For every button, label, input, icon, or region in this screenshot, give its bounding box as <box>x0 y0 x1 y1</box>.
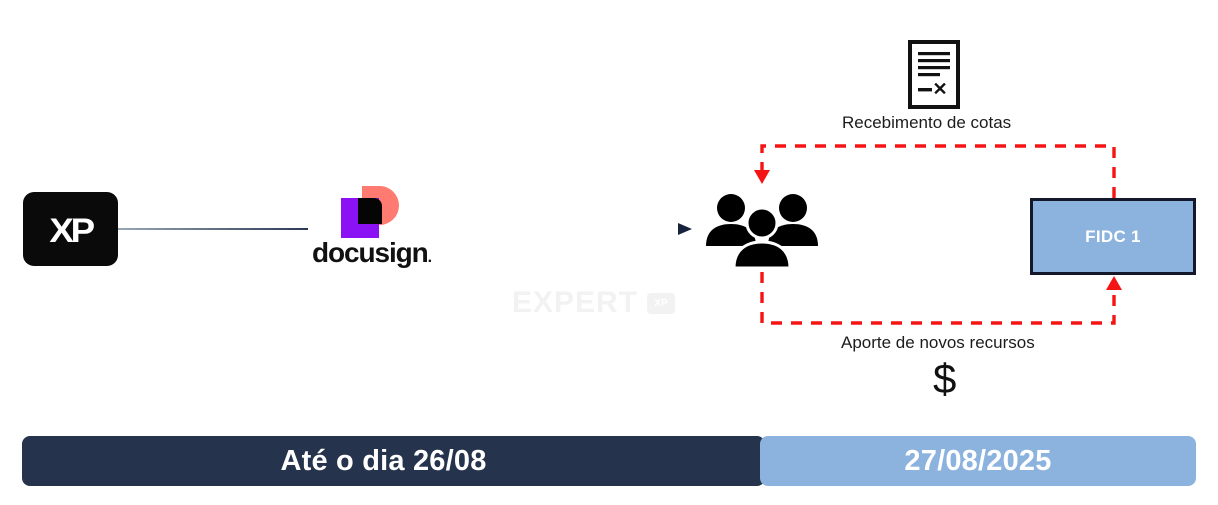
docusign-mark-icon <box>341 186 399 238</box>
xp-logo: XP <box>23 192 118 266</box>
flow-path-aporte-de-novos-recursos <box>762 272 1114 323</box>
diagram-canvas: EXPERT XP XP docusign. <box>0 0 1218 505</box>
svg-text:✕: ✕ <box>932 79 947 99</box>
docusign-mark-black-shape <box>358 198 382 224</box>
dollar-symbol: $ <box>933 358 956 400</box>
xp-logo-label: XP <box>49 214 92 248</box>
people-group-icon <box>703 190 821 270</box>
fidc-1-label: FIDC 1 <box>1085 227 1141 247</box>
docusign-logo: docusign. <box>312 186 417 272</box>
fidc-1-box[interactable]: FIDC 1 <box>1030 198 1196 275</box>
docusign-wordmark-text: docusign <box>312 237 428 268</box>
label-recebimento-de-cotas: Recebimento de cotas <box>842 114 1011 131</box>
connector-docusign-to-investors <box>420 221 695 237</box>
label-aporte-de-novos-recursos: Aporte de novos recursos <box>841 334 1035 351</box>
timeline-segment-future-label: 27/08/2025 <box>904 447 1051 476</box>
timeline-segment-past-label: Até o dia 26/08 <box>280 447 486 476</box>
expert-xp-watermark: EXPERT XP <box>512 288 675 318</box>
docusign-wordmark: docusign. <box>312 239 431 267</box>
watermark-text: EXPERT <box>512 288 638 318</box>
flow-arrowhead-to-fidc <box>1106 276 1122 290</box>
signed-document-icon: ✕ <box>908 40 960 109</box>
timeline-segment-past[interactable]: Até o dia 26/08 <box>22 436 765 486</box>
watermark-xp-badge: XP <box>647 293 675 314</box>
connector-xp-to-docusign <box>118 228 308 230</box>
flow-arrowhead-to-investors <box>754 170 770 184</box>
docusign-wordmark-dot: . <box>428 249 431 266</box>
timeline-segment-future[interactable]: 27/08/2025 <box>760 436 1196 486</box>
